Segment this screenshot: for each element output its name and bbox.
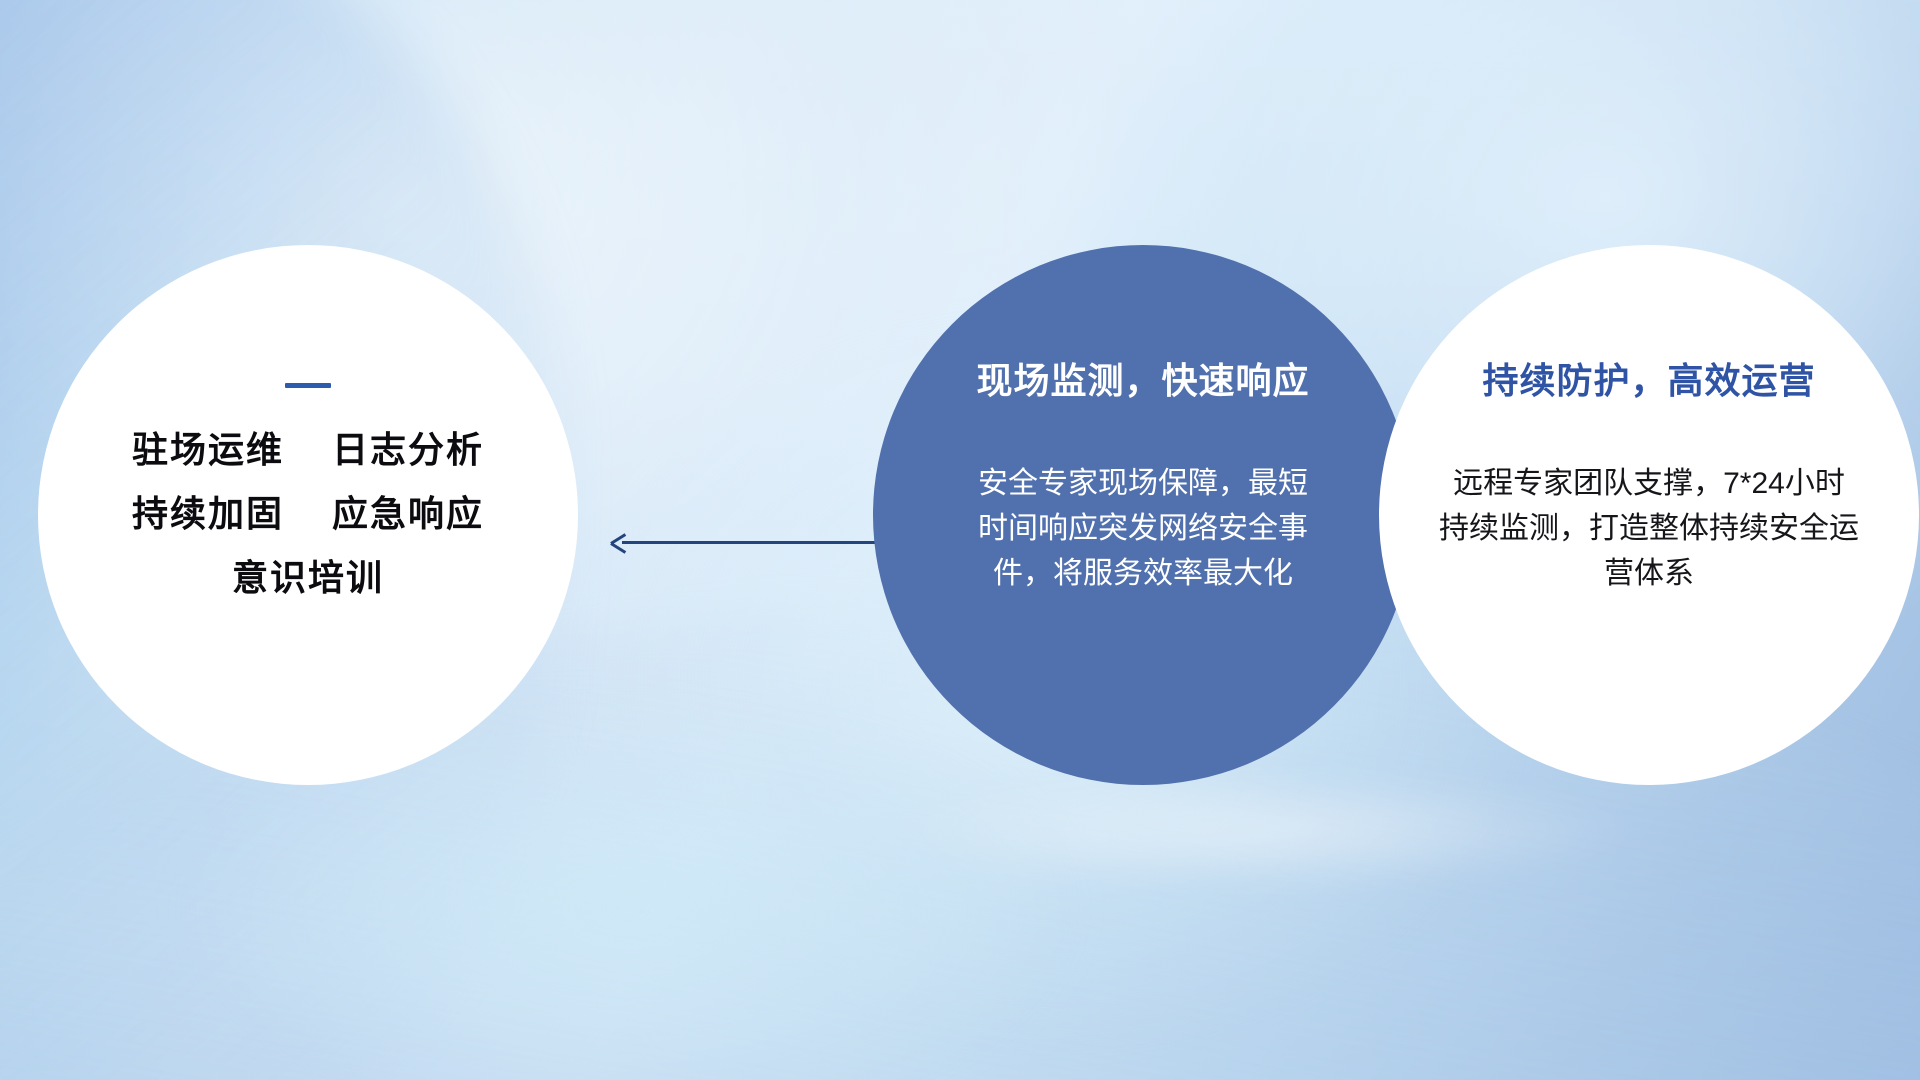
card-right-continuous-protection[interactable]: 持续防护，高效运营 远程专家团队支撑，7*24小时持续监测，打造整体持续安全运营… <box>1379 245 1919 785</box>
card-middle-title: 现场监测，快速响应 <box>976 361 1309 401</box>
arrow-head <box>610 534 628 552</box>
divider-dash <box>285 383 331 388</box>
card-middle-body: 安全专家现场保障，最短时间响应突发网络安全事件，将服务效率最大化 <box>978 461 1308 596</box>
arrow-left-icon <box>610 534 875 552</box>
arrow-shaft <box>622 541 875 544</box>
capability-line-2: 持续加固 应急响应 <box>132 496 484 532</box>
capability-line-1: 驻场运维 日志分析 <box>132 432 484 468</box>
card-middle-onsite-monitoring[interactable]: 现场监测，快速响应 安全专家现场保障，最短时间响应突发网络安全事件，将服务效率最… <box>873 245 1413 785</box>
card-left-capabilities[interactable]: 驻场运维 日志分析 持续加固 应急响应 意识培训 <box>38 245 578 785</box>
card-right-title: 持续防护，高效运营 <box>1482 361 1815 401</box>
slide-canvas: 驻场运维 日志分析 持续加固 应急响应 意识培训 现场监测，快速响应 安全专家现… <box>0 0 1920 1080</box>
capability-line-3: 意识培训 <box>232 560 384 596</box>
card-right-body: 远程专家团队支撑，7*24小时持续监测，打造整体持续安全运营体系 <box>1439 461 1859 596</box>
capability-list: 驻场运维 日志分析 持续加固 应急响应 意识培训 <box>132 432 484 596</box>
